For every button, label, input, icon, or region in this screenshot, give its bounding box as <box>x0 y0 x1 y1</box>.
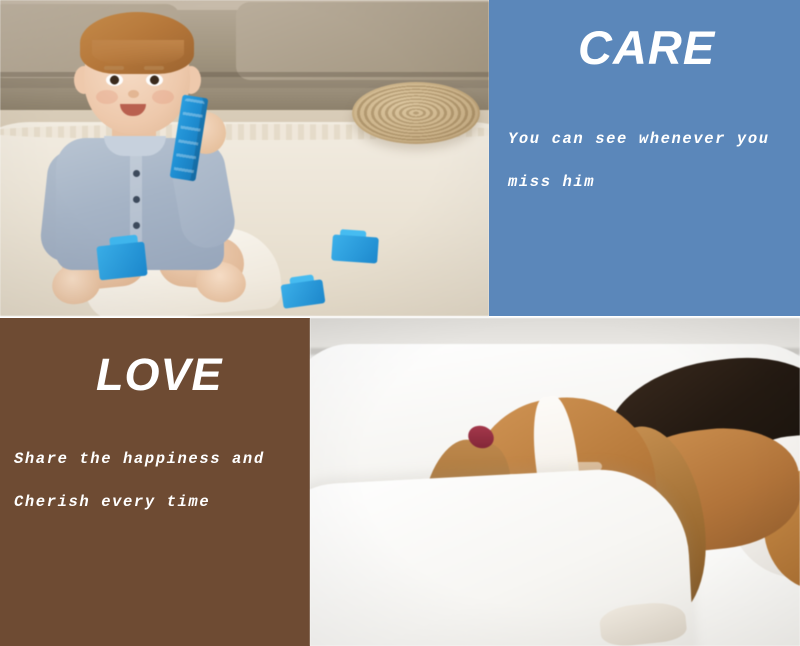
care-panel-body: You can see whenever you miss him <box>508 118 798 204</box>
toy-block-lap <box>96 242 147 281</box>
baby-eye-left <box>106 74 123 86</box>
baby-eye-right <box>146 74 163 86</box>
baby-cheek-right <box>152 90 174 104</box>
baby-photo <box>0 0 489 316</box>
care-panel-title: CARE <box>578 24 715 71</box>
toy-block-floor <box>331 234 379 263</box>
baby-cheek-left <box>96 90 118 104</box>
baby-shirt-button <box>133 170 140 177</box>
love-panel-body: Share the happiness and Cherish every ti… <box>14 438 306 524</box>
baby-nose <box>128 90 139 98</box>
love-panel-title: LOVE <box>96 352 223 397</box>
sofa-cushion-right <box>236 2 489 80</box>
baby-shirt-button <box>133 196 140 203</box>
promo-banner: CARE You can see whenever you miss him L… <box>0 0 800 646</box>
baby-shirt-button <box>133 222 140 229</box>
baby-eyebrow-left <box>104 66 124 70</box>
pouf-weave-texture <box>354 84 478 142</box>
baby-hair-fringe <box>92 40 184 66</box>
dog-photo <box>310 318 800 646</box>
love-panel: LOVE Share the happiness and Cherish eve… <box>0 318 310 646</box>
baby-eyebrow-right <box>144 66 164 70</box>
care-panel: CARE You can see whenever you miss him <box>489 0 800 316</box>
